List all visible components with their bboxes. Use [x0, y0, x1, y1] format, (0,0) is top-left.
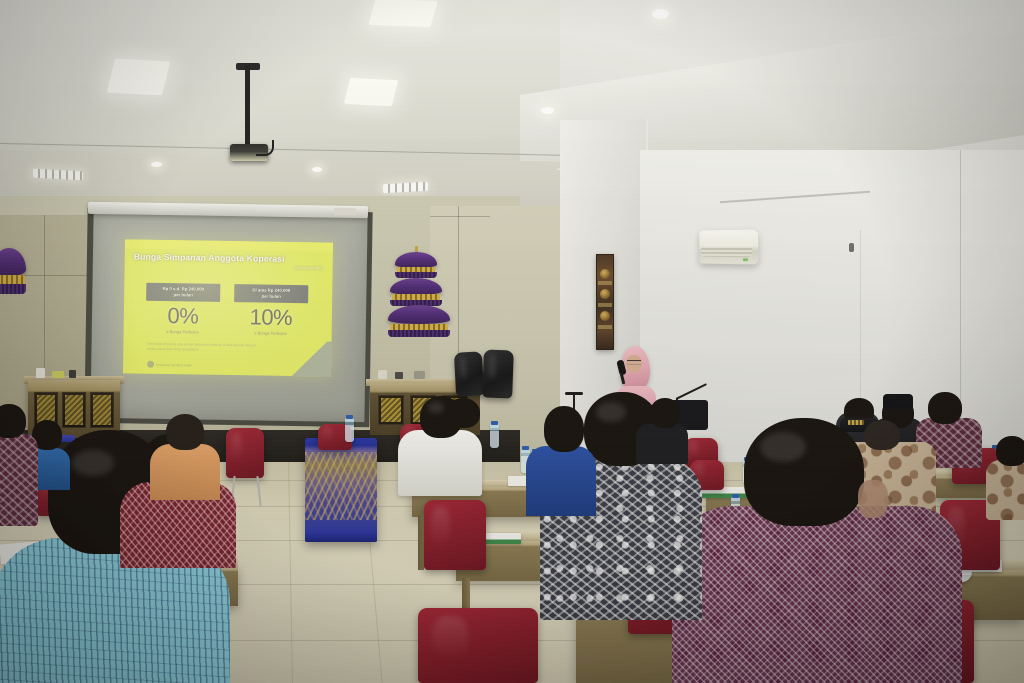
audience-member	[526, 406, 598, 516]
person-head	[166, 414, 204, 450]
audience-member	[446, 398, 480, 432]
wall-fixture	[849, 243, 854, 252]
wall-ornament-hanging	[596, 254, 614, 350]
podium-item	[69, 370, 76, 378]
water-bottle	[490, 424, 499, 448]
batik-cloth-pattern	[305, 452, 377, 520]
person-body	[526, 446, 596, 516]
chair	[418, 608, 538, 683]
audience-member	[0, 404, 42, 524]
downlight-icon	[151, 162, 162, 167]
ceremonial-umbrella	[388, 305, 450, 337]
presentation-slide: Bunga Simpanan Anggota Koperasi (Orang p…	[123, 239, 333, 376]
ceiling-panel-light-icon	[344, 78, 398, 107]
ceiling-panel-light-icon	[368, 0, 437, 27]
seminar-room-photo: Bunga Simpanan Anggota Koperasi (Orang p…	[0, 0, 1024, 683]
glasses-icon	[627, 360, 641, 365]
audience-member	[636, 398, 688, 460]
person-head	[446, 398, 480, 428]
ac-indicator-led	[743, 258, 748, 261]
person-head	[996, 436, 1024, 466]
ceiling-panel-light-icon	[107, 59, 170, 96]
projector-mount-rod	[245, 65, 250, 147]
peci-cap-icon	[883, 394, 913, 409]
person-ear-area	[858, 480, 888, 518]
downlight-icon	[652, 9, 669, 19]
air-conditioner-icon	[699, 230, 758, 265]
person-body	[672, 506, 962, 683]
person-body	[636, 424, 688, 464]
person-head	[744, 418, 864, 526]
table-item	[414, 371, 425, 379]
water-bottle	[345, 418, 354, 442]
table-item	[395, 372, 403, 379]
downlight-icon	[312, 167, 322, 172]
cloth-covered-table	[305, 438, 377, 542]
person-body	[150, 444, 220, 500]
person-body	[0, 434, 38, 526]
ceremonial-umbrella	[395, 252, 437, 278]
ceremonial-umbrella	[0, 248, 26, 294]
chair	[424, 500, 486, 570]
person-body	[398, 430, 482, 496]
person-head	[0, 404, 26, 438]
downlight-icon	[541, 107, 554, 114]
person-body	[986, 460, 1024, 520]
podium-item	[52, 371, 64, 378]
cloth-hem	[305, 532, 377, 542]
slide-projection-glow	[123, 239, 333, 376]
podium-item	[36, 368, 45, 378]
ceremonial-umbrella	[390, 278, 442, 306]
ac-vent	[701, 248, 752, 257]
office-chair	[482, 349, 514, 398]
person-head	[650, 398, 680, 428]
audience-member-foreground	[672, 418, 962, 683]
audience-member	[150, 414, 222, 498]
projection-screen-case-end	[334, 208, 356, 215]
table-item	[378, 370, 387, 379]
person-head	[544, 406, 584, 452]
audience-member	[986, 436, 1024, 516]
office-chair	[454, 351, 484, 396]
